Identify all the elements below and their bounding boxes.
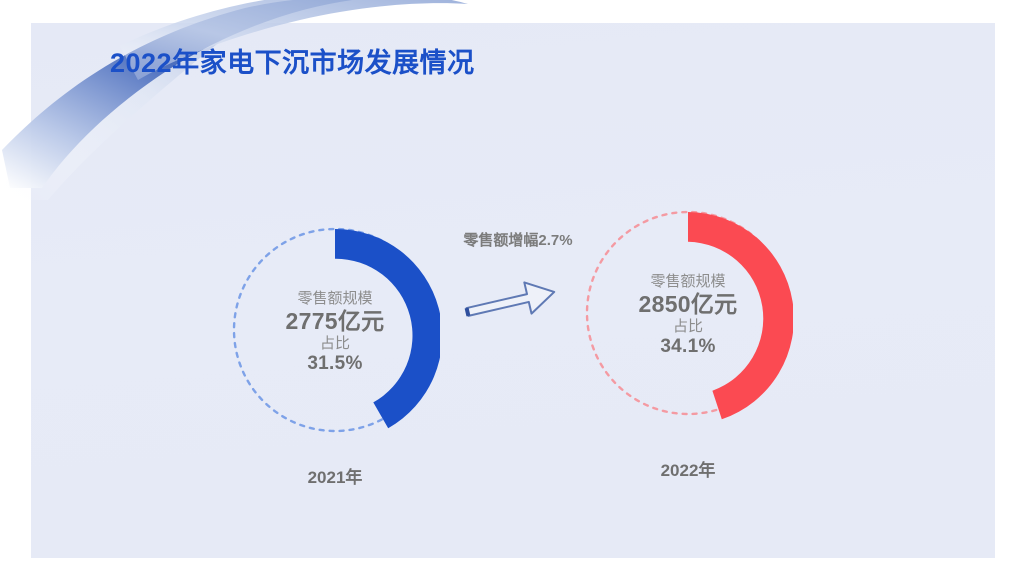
slide-canvas: 2022年家电下沉市场发展情况 零售额规模 2775亿元 占比 31.5% 20… [0, 0, 1024, 575]
donut-2021-value: 2775亿元 [230, 308, 440, 335]
donut-2021-metric-label: 零售额规模 [230, 290, 440, 308]
donut-2022-value: 2850亿元 [583, 291, 793, 318]
donut-chart-2022: 零售额规模 2850亿元 占比 34.1% 2022年 [583, 208, 793, 478]
growth-annotation-label: 零售额增幅2.7% [443, 229, 593, 250]
donut-2021-share-value: 31.5% [230, 353, 440, 375]
donut-2022-metric-label: 零售额规模 [583, 273, 793, 291]
donut-2022-share-value: 34.1% [583, 336, 793, 358]
page-title: 2022年家电下沉市场发展情况 [110, 41, 475, 80]
donut-2021-center-text: 零售额规模 2775亿元 占比 31.5% [230, 290, 440, 375]
donut-chart-2021: 零售额规模 2775亿元 占比 31.5% 2021年 [230, 225, 440, 495]
donut-2021-share-label: 占比 [230, 335, 440, 353]
donut-2021-caption: 2021年 [230, 463, 440, 488]
donut-2022-center-text: 零售额规模 2850亿元 占比 34.1% [583, 273, 793, 358]
donut-2022-caption: 2022年 [583, 456, 793, 481]
right-arrow-outline-icon [455, 262, 565, 324]
donut-2022-share-label: 占比 [583, 318, 793, 336]
